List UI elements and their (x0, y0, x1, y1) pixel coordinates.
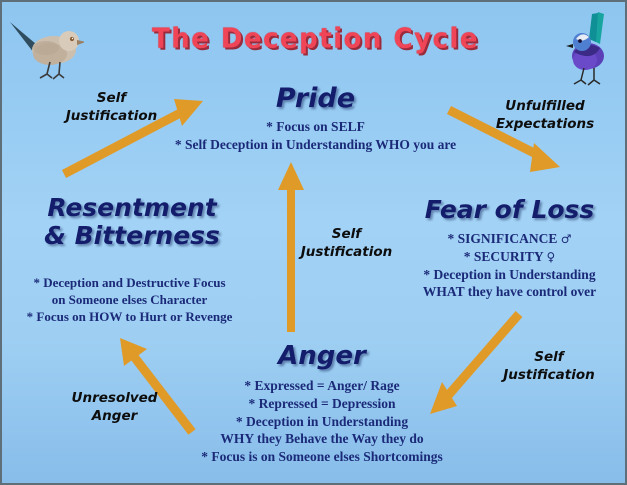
lbl-tl-line1: Self (44, 90, 179, 108)
resentment-bullet-3: * Focus on HOW to Hurt or Revenge (2, 308, 257, 325)
fear-bullet-1-text: * SIGNIFICANCE (447, 231, 557, 246)
connector-label-unresolved-anger: Unresolved Anger (42, 390, 187, 425)
resentment-title-line-2: & Bitterness (7, 222, 257, 250)
fear-bullet-2-text: * SECURITY (464, 249, 543, 264)
connector-label-unfulfilled-expectations: Unfulfilled Expectations (470, 98, 620, 133)
lbl-tr-line1: Unfulfilled (470, 98, 620, 116)
lbl-c-line1: Self (284, 226, 409, 244)
grey-fairy-wren-bird-icon (6, 10, 84, 82)
blue-fairy-wren-bird-icon (558, 8, 624, 86)
anger-bullet-3: * Deception in Understanding (162, 413, 482, 431)
anger-bullet-4: WHY they Behave the Way they do (162, 430, 482, 448)
male-symbol-icon: ♂ (561, 232, 572, 246)
connector-label-self-justification-bottom-right: Self Justification (484, 349, 614, 384)
lbl-c-line2: Justification (284, 244, 409, 262)
node-title-resentment: Resentment & Bitterness (7, 194, 257, 250)
lbl-bl-line1: Unresolved (42, 390, 187, 408)
anger-bullet-2: * Repressed = Depression (162, 395, 482, 413)
deception-cycle-diagram: The Deception Cycle Pride * Focus on SEL… (0, 0, 627, 485)
node-body-resentment: * Deception and Destructive Focus on Som… (2, 274, 257, 325)
node-body-fear-of-loss: * SIGNIFICANCE ♂ * SECURITY ♀ * Deceptio… (392, 230, 627, 301)
anger-bullet-5: * Focus is on Someone elses Shortcomings (162, 448, 482, 466)
anger-bullet-1: * Expressed = Anger/ Rage (162, 377, 482, 395)
node-title-fear-of-loss: Fear of Loss (392, 196, 627, 224)
lbl-tr-line2: Expectations (470, 116, 620, 134)
fear-bullet-1: * SIGNIFICANCE ♂ (392, 230, 627, 248)
connector-label-self-justification-center: Self Justification (284, 226, 409, 261)
lbl-br-line2: Justification (484, 367, 614, 385)
resentment-title-line-1: Resentment (7, 194, 257, 222)
fear-bullet-3: * Deception in Understanding (392, 266, 627, 284)
lbl-tl-line2: Justification (44, 108, 179, 126)
female-symbol-icon: ♀ (546, 250, 555, 264)
pride-bullet-2: * Self Deception in Understanding WHO yo… (2, 136, 627, 154)
fear-bullet-2: * SECURITY ♀ (392, 248, 627, 266)
connector-label-self-justification-top-left: Self Justification (44, 90, 179, 125)
lbl-br-line1: Self (484, 349, 614, 367)
node-body-anger: * Expressed = Anger/ Rage * Repressed = … (162, 377, 482, 466)
node-title-anger: Anger (177, 342, 467, 371)
resentment-bullet-2: on Someone elses Character (2, 291, 257, 308)
page-title: The Deception Cycle (2, 23, 627, 55)
resentment-bullet-1: * Deception and Destructive Focus (2, 274, 257, 291)
fear-bullet-4: WHAT they have control over (392, 283, 627, 301)
lbl-bl-line2: Anger (42, 408, 187, 426)
